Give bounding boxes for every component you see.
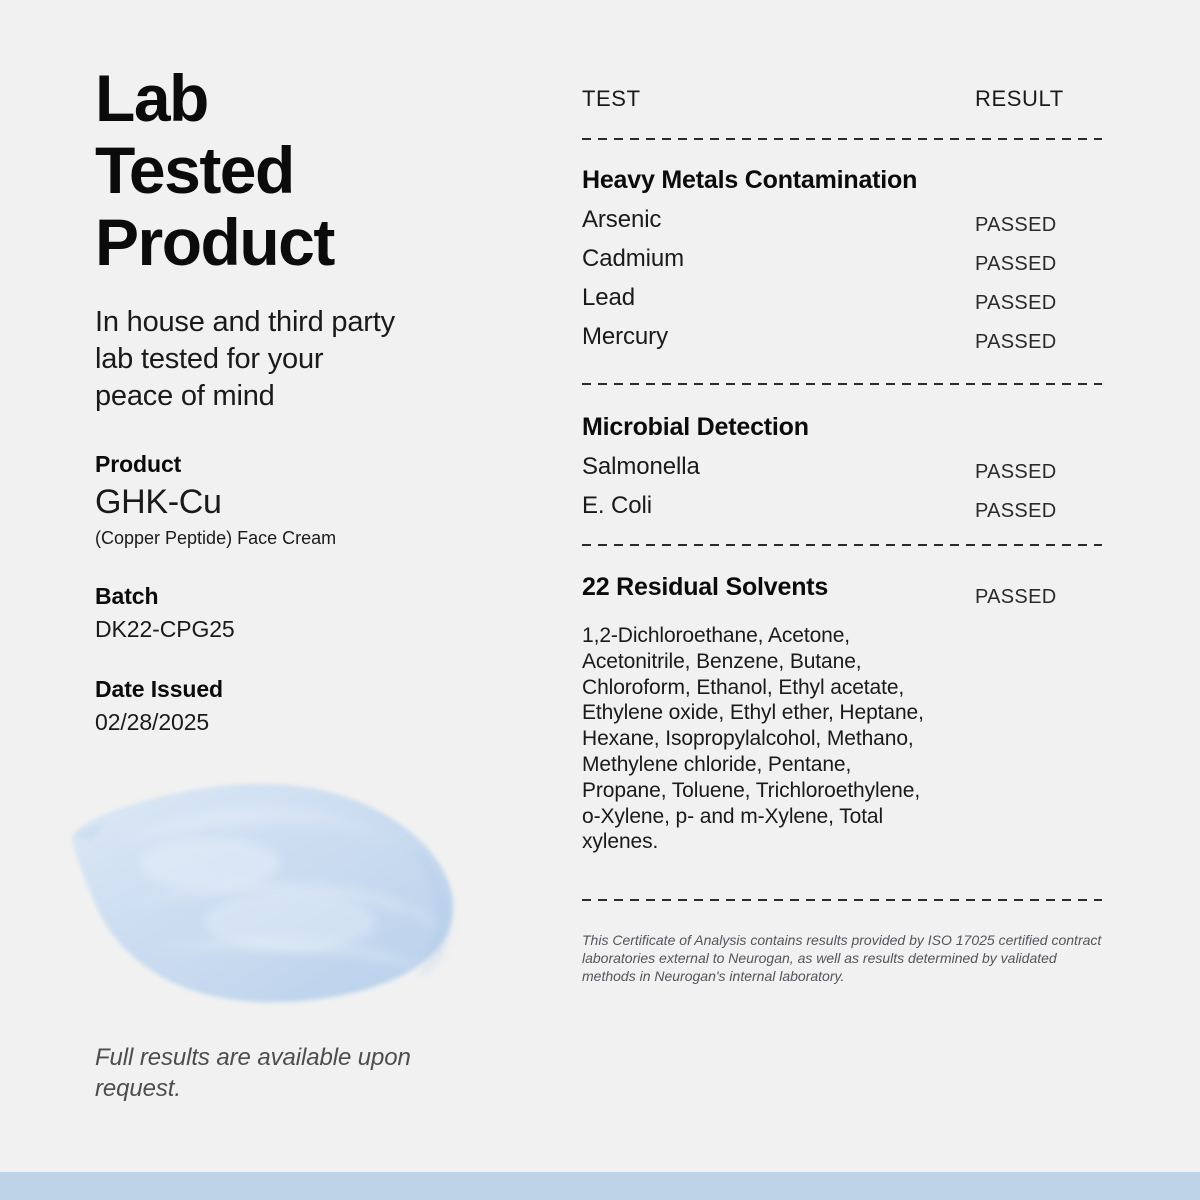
table-row: Arsenic PASSED	[582, 205, 1102, 244]
section-title: Heavy Metals Contamination	[582, 166, 1102, 195]
divider-top	[582, 138, 1102, 140]
date-issued-value: 02/28/2025	[95, 707, 525, 737]
batch-value: DK22-CPG25	[95, 614, 525, 644]
solvent-header-row: 22 Residual Solvents PASSED	[582, 573, 1102, 607]
date-issued-label: Date Issued	[95, 674, 525, 704]
certificate-page: Lab Tested Product In house and third pa…	[0, 0, 1200, 1200]
title-line-1: Lab	[95, 62, 525, 134]
table-row: Mercury PASSED	[582, 322, 1102, 361]
left-column: Lab Tested Product In house and third pa…	[95, 62, 525, 737]
test-name: Lead	[582, 283, 635, 313]
status-badge: PASSED	[975, 210, 1056, 240]
product-name: GHK-Cu	[95, 481, 525, 523]
bottom-accent-bar	[0, 1172, 1200, 1200]
status-badge: PASSED	[975, 582, 1056, 612]
title-line-2: Tested	[95, 134, 525, 206]
solvent-list: 1,2-Dichloroethane, Acetone, Acetonitril…	[582, 623, 927, 855]
page-subtitle: In house and third party lab tested for …	[95, 304, 405, 415]
status-badge: PASSED	[975, 249, 1056, 279]
test-name: Cadmium	[582, 244, 684, 274]
test-name: Arsenic	[582, 205, 661, 235]
test-name: Mercury	[582, 322, 668, 352]
test-name: Salmonella	[582, 452, 700, 482]
page-title: Lab Tested Product	[95, 62, 525, 278]
full-results-note: Full results are available upon request.	[95, 1042, 425, 1104]
divider-after-heavy-metals	[582, 383, 1102, 385]
cream-swatch-image	[60, 772, 510, 1017]
column-header-test: TEST	[582, 86, 641, 112]
section-microbial: Microbial Detection Salmonella PASSED E.…	[582, 413, 1102, 530]
table-row: Cadmium PASSED	[582, 244, 1102, 283]
section-title: Microbial Detection	[582, 413, 1102, 442]
column-header-result: RESULT	[975, 86, 1064, 112]
section-rows: Salmonella PASSED E. Coli PASSED	[582, 452, 1102, 530]
section-heavy-metals: Heavy Metals Contamination Arsenic PASSE…	[582, 166, 1102, 361]
batch-label: Batch	[95, 581, 525, 611]
product-label: Product	[95, 449, 525, 479]
status-badge: PASSED	[975, 288, 1056, 318]
table-row: Lead PASSED	[582, 283, 1102, 322]
status-badge: PASSED	[975, 457, 1056, 487]
table-row: Salmonella PASSED	[582, 452, 1102, 491]
date-issued-field: Date Issued 02/28/2025	[95, 674, 525, 737]
section-residual-solvents: 22 Residual Solvents PASSED 1,2-Dichloro…	[582, 573, 1102, 855]
section-rows: Arsenic PASSED Cadmium PASSED Lead PASSE…	[582, 205, 1102, 361]
divider-after-microbial	[582, 544, 1102, 546]
results-table: TEST RESULT Heavy Metals Contamination A…	[582, 86, 1102, 985]
test-name: E. Coli	[582, 491, 652, 521]
product-descriptor: (Copper Peptide) Face Cream	[95, 526, 525, 551]
section-title: 22 Residual Solvents	[582, 573, 828, 602]
table-row: E. Coli PASSED	[582, 491, 1102, 530]
table-header-row: TEST RESULT	[582, 86, 1102, 122]
certificate-disclaimer: This Certificate of Analysis contains re…	[582, 931, 1102, 985]
status-badge: PASSED	[975, 496, 1056, 526]
title-line-3: Product	[95, 206, 525, 278]
divider-bottom	[582, 899, 1102, 901]
product-field: Product GHK-Cu (Copper Peptide) Face Cre…	[95, 449, 525, 551]
batch-field: Batch DK22-CPG25	[95, 581, 525, 644]
status-badge: PASSED	[975, 327, 1056, 357]
